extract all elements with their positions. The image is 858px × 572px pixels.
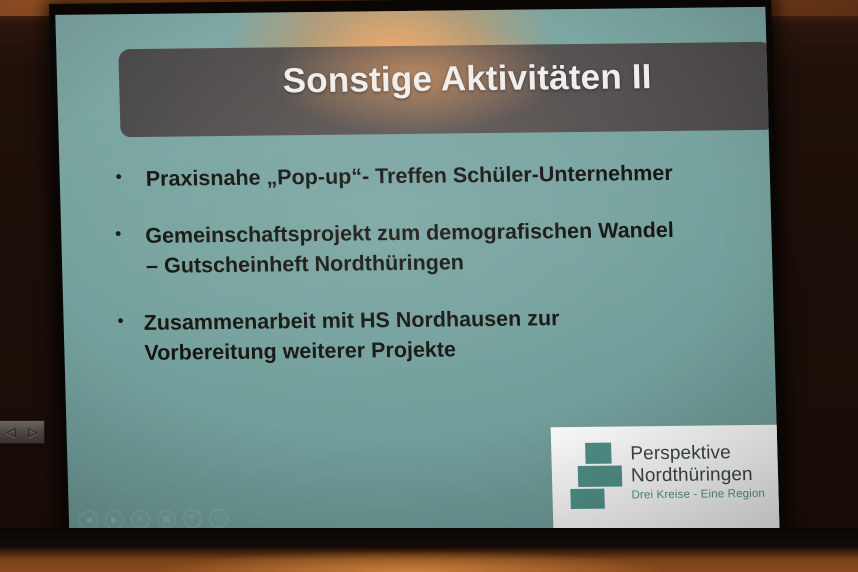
screen-left-arrow-icon[interactable]: ◁ xyxy=(6,426,15,438)
logo-block-top xyxy=(585,443,612,464)
bullet-marker-icon: • xyxy=(115,220,146,247)
presenter-toolbar[interactable]: ◀ ▶ ✎ ▦ 🔍 ⋯ xyxy=(79,509,229,530)
slide-title-banner: Sonstige Aktivitäten II xyxy=(118,42,774,137)
list-item: • Gemeinschaftsprojekt zum demografische… xyxy=(115,213,763,281)
projection-screen: Sonstige Aktivitäten II • Praxisnahe „Po… xyxy=(49,0,786,556)
more-options-button[interactable]: ⋯ xyxy=(209,509,229,528)
presentation-slide: Sonstige Aktivitäten II • Praxisnahe „Po… xyxy=(55,7,779,539)
pen-button[interactable]: ✎ xyxy=(131,510,151,529)
more-options-icon: ⋯ xyxy=(210,510,227,527)
logo: Perspektive Nordthüringen Drei Kreise - … xyxy=(569,441,765,505)
slide-grid-button[interactable]: ▦ xyxy=(157,510,177,529)
slide-bullet-list: • Praxisnahe „Pop-up“- Treffen Schüler-U… xyxy=(113,157,765,395)
bullet-line: Praxisnahe „Pop-up“- Treffen Schüler-Unt… xyxy=(145,157,760,194)
bullet-text: Praxisnahe „Pop-up“- Treffen Schüler-Unt… xyxy=(145,157,760,194)
zoom-button[interactable]: 🔍 xyxy=(183,509,203,528)
slide-grid-icon: ▦ xyxy=(158,511,175,528)
list-item: • Praxisnahe „Pop-up“- Treffen Schüler-U… xyxy=(115,157,760,195)
previous-slide-button[interactable]: ◀ xyxy=(79,510,99,529)
pen-icon: ✎ xyxy=(132,511,149,528)
logo-block-bottom xyxy=(570,489,605,509)
photo-scene: ◁ ▷ Sonstige Aktivitäten II • Praxisnahe… xyxy=(0,0,858,572)
perspektive-nordthueringen-logo-icon xyxy=(569,442,623,505)
floor-light-reflection xyxy=(150,550,670,572)
logo-panel: Perspektive Nordthüringen Drei Kreise - … xyxy=(551,425,780,539)
next-slide-icon: ▶ xyxy=(106,511,123,528)
logo-block-middle xyxy=(578,465,623,486)
previous-slide-icon: ◀ xyxy=(80,511,97,528)
page-title: Sonstige Aktivitäten II xyxy=(119,56,774,103)
logo-line-2: Nordthüringen xyxy=(631,464,765,488)
logo-line-1: Perspektive xyxy=(630,442,764,466)
wall-control-panel[interactable]: ◁ ▷ xyxy=(0,420,45,444)
bullet-line: – Gutscheinheft Nordthüringen xyxy=(146,244,763,281)
bullet-marker-icon: • xyxy=(117,307,144,334)
bullet-marker-icon: • xyxy=(115,164,146,191)
bullet-line: Vorbereitung weiterer Projekte xyxy=(144,331,765,369)
screen-right-arrow-icon[interactable]: ▷ xyxy=(28,426,37,438)
logo-wordmark: Perspektive Nordthüringen Drei Kreise - … xyxy=(630,441,765,502)
zoom-icon: 🔍 xyxy=(184,510,201,527)
logo-tagline: Drei Kreise - Eine Region xyxy=(631,488,765,502)
next-slide-button[interactable]: ▶ xyxy=(105,510,125,529)
bullet-text: Gemeinschaftsprojekt zum demografischen … xyxy=(145,213,763,281)
bullet-text: Zusammenarbeit mit HS Nordhausen zur Vor… xyxy=(143,300,765,368)
list-item: • Zusammenarbeit mit HS Nordhausen zur V… xyxy=(117,300,765,368)
